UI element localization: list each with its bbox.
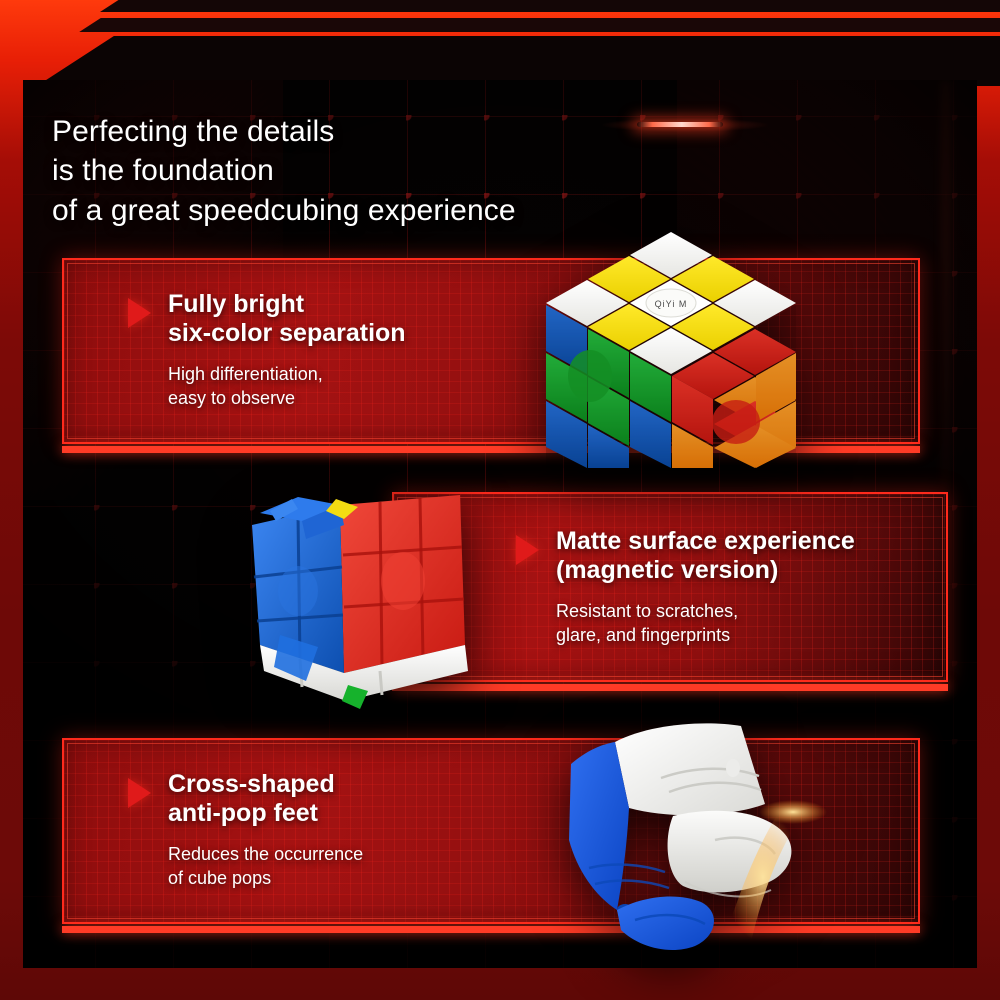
corner-white-body: [615, 723, 765, 815]
headline-line-3: of a great speedcubing experience: [52, 191, 516, 230]
feature-3-title-line-2: anti-pop feet: [168, 799, 363, 828]
corner-piece-illustration: [565, 720, 855, 955]
panel-lip: [392, 684, 948, 691]
feature-3-sub-line-2: of cube pops: [168, 867, 363, 891]
page-title: Perfecting the details is the foundation…: [52, 112, 516, 230]
feature-3-title-line-1: Cross-shaped: [168, 770, 363, 799]
product-feature-poster: Perfecting the details is the foundation…: [0, 0, 1000, 1000]
feature-2-sub-line-1: Resistant to scratches,: [556, 600, 855, 624]
ceiling-band: [100, 0, 1000, 12]
feature-2-title-line-2: (magnetic version): [556, 556, 855, 585]
headline-line-2: is the foundation: [52, 151, 516, 190]
svg-text:QiYi M: QiYi M: [655, 299, 688, 309]
triangle-right-icon: [516, 535, 539, 565]
cube-twisted-illustration: [240, 495, 475, 710]
ceiling-band: [6, 36, 1000, 86]
triangle-right-icon: [128, 778, 151, 808]
feature-1-sub-line-2: easy to observe: [168, 387, 406, 411]
feature-3-text: Cross-shaped anti-pop feet Reduces the o…: [168, 770, 363, 891]
speed-cube-six-color-photo: QiYi M: [546, 226, 796, 468]
feature-1-subtitle: High differentiation, easy to observe: [168, 363, 406, 411]
feature-2-sub-line-2: glare, and fingerprints: [556, 624, 855, 648]
anti-pop-foot-closeup-photo: [565, 720, 855, 955]
feature-2-title-line-1: Matte surface experience: [556, 527, 855, 556]
cube2-red-face: [340, 495, 465, 673]
matte-surface-cube-photo: [240, 495, 475, 710]
ceiling-decor: [0, 0, 1000, 86]
cube-illustration: QiYi M: [546, 226, 796, 468]
feature-2-subtitle: Resistant to scratches, glare, and finge…: [556, 600, 855, 648]
headline-line-1: Perfecting the details: [52, 112, 516, 151]
feature-2-title: Matte surface experience (magnetic versi…: [556, 527, 855, 585]
ceiling-light-bar: [637, 122, 723, 127]
ceiling-band: [79, 18, 1000, 32]
feature-3-sub-line-1: Reduces the occurrence: [168, 843, 363, 867]
feature-3-title: Cross-shaped anti-pop feet: [168, 770, 363, 828]
feature-3-subtitle: Reduces the occurrence of cube pops: [168, 843, 363, 891]
feature-2-text: Matte surface experience (magnetic versi…: [556, 527, 855, 648]
feature-1-text: Fully bright six-color separation High d…: [168, 290, 406, 411]
feature-1-sub-line-1: High differentiation,: [168, 363, 406, 387]
triangle-right-icon: [128, 298, 151, 328]
feature-1-title-line-2: six-color separation: [168, 319, 406, 348]
feature-1-title-line-1: Fully bright: [168, 290, 406, 319]
feature-1-title: Fully bright six-color separation: [168, 290, 406, 348]
corner-lower-blue: [617, 896, 714, 950]
